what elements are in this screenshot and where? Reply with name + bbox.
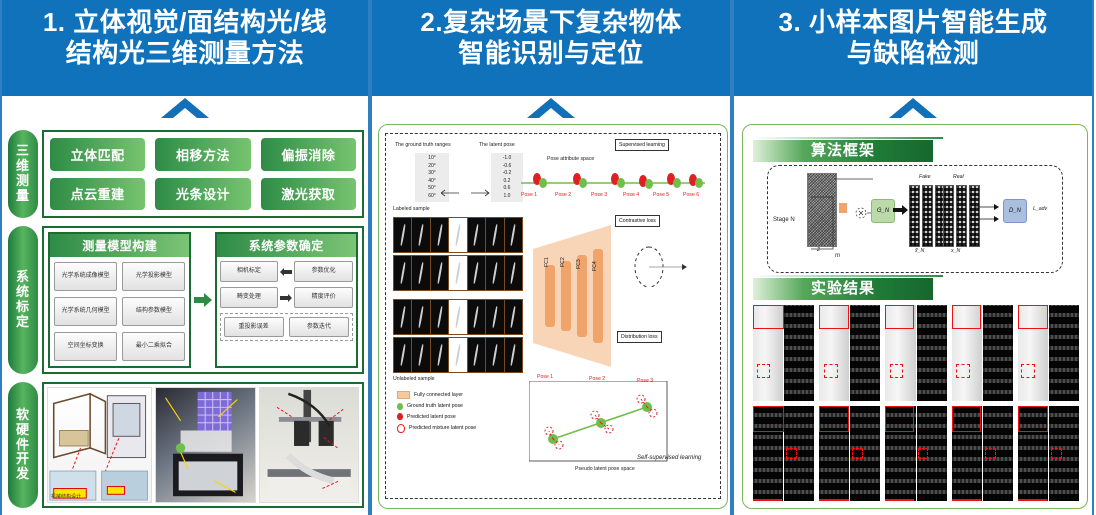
tab-char: 开 [16, 452, 30, 467]
panel-1-header: 1. 立体视觉/面结构光/线 结构光三维测量方法 [2, 0, 368, 96]
legend-item: Fully connected layer [397, 391, 476, 399]
defect-detection-sample[interactable] [753, 305, 814, 401]
supervised-learning-label: Supervised learning [615, 139, 669, 151]
discriminator-block: D_N [1003, 199, 1027, 223]
real-sample-label: x_N [951, 249, 960, 254]
tab-char: 统 [16, 285, 30, 300]
lp-value: -0.6 [495, 163, 519, 171]
unlabeled-sample-strip [393, 337, 523, 373]
method-button[interactable]: 偏振消除 [261, 138, 356, 171]
gt-value: 40° [419, 178, 445, 186]
panel-3: 3. 小样本图片智能生成 与缺陷检测 算法框架 Stage N z m G_N [732, 0, 1094, 515]
panel-2-body: The ground truth ranges The latent pose … [378, 124, 728, 509]
lab-photos-box: 机械结构设计 [42, 382, 364, 508]
tab-char: 件 [16, 438, 30, 453]
method-button[interactable]: 点云重建 [50, 178, 145, 211]
lp-value: 0.6 [495, 185, 519, 193]
mapping-arrows-icon [441, 187, 491, 199]
panel-2-chevron [372, 96, 730, 122]
tab-char: 发 [16, 467, 30, 482]
panel-3-title-line-2: 与缺陷检测 [740, 38, 1086, 69]
diagram-legend: Fully connected layer Ground truth laten… [397, 391, 476, 436]
arrow-right-icon [893, 205, 909, 215]
red-outline-dot-icon [397, 424, 405, 433]
flow-arrow-icon [193, 232, 212, 368]
defect-detection-sample[interactable] [1018, 406, 1079, 502]
labeled-sample-strip [393, 255, 523, 291]
legend-label: Fully connected layer [414, 392, 463, 398]
sidebar-item-system-calibration[interactable]: 系 统 标 定 [8, 226, 38, 374]
measurement-model-box: 测量模型构建 光学系统成像模型 光学投影模型 光学系统几何模型 结构参数模型 空… [48, 232, 191, 368]
tab-char: 定 [16, 315, 30, 330]
lp-value: 1.0 [495, 193, 519, 201]
model-item[interactable]: 光学投影模型 [122, 262, 185, 291]
method-button[interactable]: 光条设计 [155, 178, 250, 211]
panel-2-title-line-2: 智能识别与定位 [378, 38, 724, 69]
panel-2-header: 2.复杂场景下复杂物体 智能识别与定位 [372, 0, 730, 96]
param-item[interactable]: 精度评价 [294, 287, 353, 308]
algorithm-framework-bar: 算法框架 [753, 140, 933, 162]
panel-3-title-line-1: 3. 小样本图片智能生成 [740, 7, 1086, 38]
three-panel-poster: 1. 立体视觉/面结构光/线 结构光三维测量方法 三 维 测 量 立体匹配 相移… [0, 0, 1096, 515]
fc-block-label: FC1 [545, 257, 550, 267]
gt-value: 20° [419, 163, 445, 171]
pseudo-node-label: Pose 3 [637, 379, 653, 384]
defect-detection-sample[interactable] [885, 305, 946, 401]
legend-item: Predicted latent pose [397, 413, 476, 420]
generated-sample-label: x̃_N [915, 249, 924, 254]
fake-feature-label: Fake [919, 175, 931, 180]
model-item[interactable]: 光学系统成像模型 [54, 262, 117, 291]
panel-3-chevron [734, 96, 1092, 122]
self-supervised-learning-label: Self-supervised learning [637, 455, 701, 461]
legend-item: Ground truth latent pose [397, 403, 476, 410]
tab-char: 三 [16, 144, 30, 159]
latent-pose-label: The latent pose [479, 143, 515, 148]
lp-value: 0.2 [495, 178, 519, 186]
labeled-sample-label: Labeled sample [393, 207, 430, 212]
legend-label: Predicted mixture latent pose [409, 425, 476, 431]
panel-2-title-line-1: 2.复杂场景下复杂物体 [378, 7, 724, 38]
pose-attribute-space-label: Pose attribute space [547, 157, 594, 162]
arrow-right-icon [280, 294, 292, 302]
system-parameter-header: 系统参数确定 [217, 234, 356, 257]
adversarial-loss-label: L_adv [1033, 207, 1047, 212]
labeled-sample-strip [393, 217, 523, 253]
experimental-results-bar: 实验结果 [753, 278, 933, 300]
pose-node-label: Pose 1 [521, 193, 537, 198]
arrow-left-icon [280, 268, 292, 276]
model-item[interactable]: 空间坐标变换 [54, 332, 117, 361]
structured-light-projector-photo [155, 387, 255, 503]
param-item[interactable]: 畸变处理 [220, 287, 279, 308]
measurement-methods-box: 立体匹配 相移方法 偏振消除 点云重建 光条设计 激光获取 [42, 130, 364, 218]
defect-detection-sample[interactable] [819, 305, 880, 401]
method-button[interactable]: 激光获取 [261, 178, 356, 211]
green-dot-icon [397, 403, 403, 410]
defect-detection-sample[interactable] [819, 406, 880, 502]
measurement-model-header: 测量模型构建 [50, 234, 189, 257]
param-item[interactable]: 参数优化 [294, 261, 353, 282]
tab-char: 量 [16, 189, 30, 204]
model-item[interactable]: 光学系统几何模型 [54, 297, 117, 326]
param-item[interactable]: 参数迭代 [289, 317, 349, 337]
model-item[interactable]: 最小二乘拟合 [122, 332, 185, 361]
system-parameter-box: 系统参数确定 相机标定 参数优化 畸变处理 精度评价 [215, 232, 358, 368]
panel-1-chevron [2, 96, 368, 122]
defect-detection-sample[interactable] [885, 406, 946, 502]
legend-label: Predicted latent pose [407, 414, 456, 420]
pose-node-label: Pose 6 [683, 193, 699, 198]
lp-value: -0.2 [495, 170, 519, 178]
lp-value: -1.0 [495, 155, 519, 163]
panel-1-title-line-1: 1. 立体视觉/面结构光/线 [8, 7, 362, 38]
results-bar-topline [753, 275, 943, 277]
param-item[interactable]: 重投影误差 [224, 317, 284, 337]
pseudo-pose-space-diagram [529, 381, 669, 463]
method-button[interactable]: 立体匹配 [50, 138, 145, 171]
measurement-frame-cad-photo: 机械结构设计 [47, 387, 152, 503]
legend-item: Predicted mixture latent pose [397, 424, 476, 433]
fc-block-label: FC2 [561, 257, 566, 267]
algorithm-bar-topline [753, 137, 943, 139]
distribution-loss-label: Distribution loss [617, 331, 662, 343]
tab-char: 测 [16, 174, 30, 189]
loss-cycle-icon [629, 241, 689, 295]
gt-value: 30° [419, 170, 445, 178]
pose-node-label: Pose 3 [591, 193, 607, 198]
pose-node-label: Pose 4 [623, 193, 639, 198]
real-feature-label: Real [953, 175, 964, 180]
defect-detection-sample[interactable] [952, 406, 1013, 502]
framework-wiring [799, 173, 877, 259]
defect-detection-sample[interactable] [952, 305, 1013, 401]
defect-detection-sample[interactable] [1018, 305, 1079, 401]
param-optimization-group: 重投影误差 参数迭代 [220, 313, 353, 341]
unlabeled-sample-label: Unlabeled sample [393, 377, 435, 382]
panel-2: 2.复杂场景下复杂物体 智能识别与定位 The ground truth ran… [370, 0, 732, 515]
tab-char: 维 [16, 159, 30, 174]
red-dot-icon [397, 413, 403, 420]
tab-char: 系 [16, 270, 30, 285]
pose-axis-diagram [519, 165, 709, 199]
sidebar-item-3d-measurement[interactable]: 三 维 测 量 [8, 130, 38, 218]
fc-layer-swatch-icon [397, 391, 410, 399]
tab-char: 硬 [16, 423, 30, 438]
fc-block-label: FC4 [593, 261, 598, 271]
unlabeled-sample-strip [393, 299, 523, 335]
contrastive-loss-label: Contrastive loss [615, 215, 660, 227]
panel-3-body: 算法框架 Stage N z m G_N Fake Real [742, 124, 1088, 509]
param-item[interactable]: 相机标定 [220, 261, 279, 282]
pseudo-node-label: Pose 1 [537, 375, 553, 380]
tab-char: 软 [16, 408, 30, 423]
generator-block: G_N [871, 199, 895, 223]
panel-1-body: 三 维 测 量 立体匹配 相移方法 偏振消除 点云重建 光条设计 激光获取 系 … [2, 122, 368, 515]
panel-1-title-line-2: 结构光三维测量方法 [8, 38, 362, 69]
pose-node-label: Pose 5 [653, 193, 669, 198]
sidebar-item-hw-sw-development[interactable]: 软 硬 件 开 发 [8, 382, 38, 508]
panel-1: 1. 立体视觉/面结构光/线 结构光三维测量方法 三 维 测 量 立体匹配 相移… [0, 0, 370, 515]
fake-feature-stack [909, 185, 946, 247]
arrow-to-discriminator [975, 199, 1003, 227]
ground-truth-ranges-label: The ground truth ranges [395, 143, 451, 148]
encoder-network-diagram [529, 221, 615, 371]
gt-value: 10° [419, 155, 445, 163]
pose-node-label: Pose 2 [555, 193, 571, 198]
method-button[interactable]: 相移方法 [155, 138, 250, 171]
tab-char: 标 [16, 300, 30, 315]
legend-label: Ground truth latent pose [407, 403, 463, 409]
photo-caption: 机械结构设计 [51, 493, 81, 500]
defect-results-grid [753, 305, 1079, 501]
laser-scanning-rig-photo [259, 387, 359, 503]
pseudo-latent-pose-space-label: Pseudo latent pose space [575, 467, 635, 472]
model-item[interactable]: 结构参数模型 [122, 297, 185, 326]
fc-block-label: FC3 [577, 259, 582, 269]
stage-label: Stage N [773, 217, 795, 223]
pseudo-node-label: Pose 2 [589, 377, 605, 382]
defect-detection-sample[interactable] [753, 406, 814, 502]
calibration-box: 测量模型构建 光学系统成像模型 光学投影模型 光学系统几何模型 结构参数模型 空… [42, 226, 364, 374]
panel-3-header: 3. 小样本图片智能生成 与缺陷检测 [734, 0, 1092, 96]
